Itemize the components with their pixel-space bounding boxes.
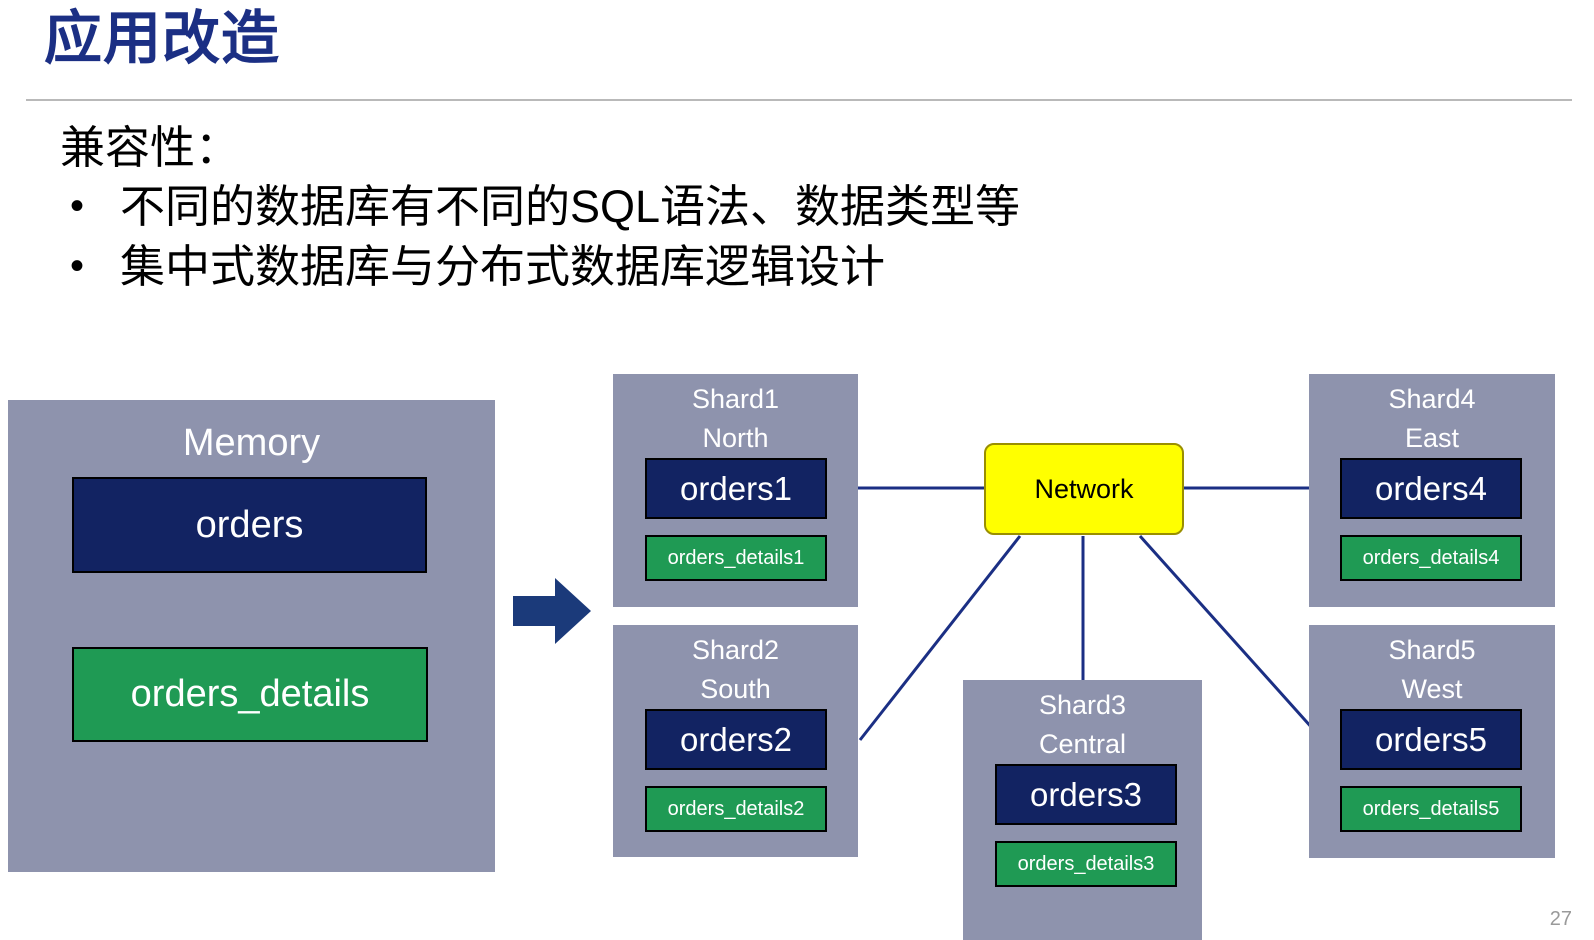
bullet-marker-icon: •: [60, 237, 120, 295]
memory-panel: Memory: [8, 400, 495, 872]
title-divider: [26, 99, 1572, 101]
shard-region-shard1: North: [702, 423, 768, 453]
body-lead: 兼容性：: [60, 118, 1510, 177]
shard-region-shard3: Central: [1039, 729, 1126, 759]
shard-name-shard3: Shard3: [1039, 690, 1126, 720]
table-orders-details: orders_details: [72, 647, 428, 742]
shard-name-shard2: Shard2: [692, 635, 779, 665]
shard-region-shard5: West: [1401, 674, 1462, 704]
table-orders-details5: orders_details5: [1340, 786, 1522, 832]
shard-name-shard4: Shard4: [1388, 384, 1475, 414]
sharding-diagram: Memory orders orders_details Shard1North…: [0, 360, 1594, 940]
body-text: 兼容性： • 不同的数据库有不同的SQL语法、数据类型等 • 集中式数据库与分布…: [60, 118, 1510, 296]
shard-name-shard5: Shard5: [1388, 635, 1475, 665]
bullet-text-2: 集中式数据库与分布式数据库逻辑设计: [120, 237, 885, 296]
table-orders4: orders4: [1340, 458, 1522, 519]
right-arrow-icon: [513, 576, 591, 646]
table-orders1: orders1: [645, 458, 827, 519]
bullet-item-1: • 不同的数据库有不同的SQL语法、数据类型等: [60, 177, 1510, 236]
shard-region-shard2: South: [700, 674, 771, 704]
table-orders-details2: orders_details2: [645, 786, 827, 832]
shard-title-shard1: Shard1North: [613, 374, 858, 458]
slide: 应用改造 兼容性： • 不同的数据库有不同的SQL语法、数据类型等 • 集中式数…: [0, 0, 1594, 939]
bullet-marker-icon: •: [60, 177, 120, 235]
shard-name-shard1: Shard1: [692, 384, 779, 414]
table-orders-details3: orders_details3: [995, 841, 1177, 887]
bullet-text-1: 不同的数据库有不同的SQL语法、数据类型等: [120, 177, 1020, 236]
table-orders3: orders3: [995, 764, 1177, 825]
bullet-item-2: • 集中式数据库与分布式数据库逻辑设计: [60, 237, 1510, 296]
table-orders2: orders2: [645, 709, 827, 770]
page-number: 27: [1550, 908, 1572, 931]
shard-title-shard3: Shard3Central: [963, 680, 1202, 764]
shard-title-shard2: Shard2South: [613, 625, 858, 709]
table-orders-details1: orders_details1: [645, 535, 827, 581]
shard-title-shard4: Shard4East: [1309, 374, 1555, 458]
shard-region-shard4: East: [1405, 423, 1459, 453]
memory-label: Memory: [8, 400, 495, 471]
shard-title-shard5: Shard5West: [1309, 625, 1555, 709]
page-title: 应用改造: [44, 6, 280, 73]
table-orders5: orders5: [1340, 709, 1522, 770]
table-orders: orders: [72, 477, 427, 573]
table-orders-details4: orders_details4: [1340, 535, 1522, 581]
network-node: Network: [984, 443, 1184, 535]
